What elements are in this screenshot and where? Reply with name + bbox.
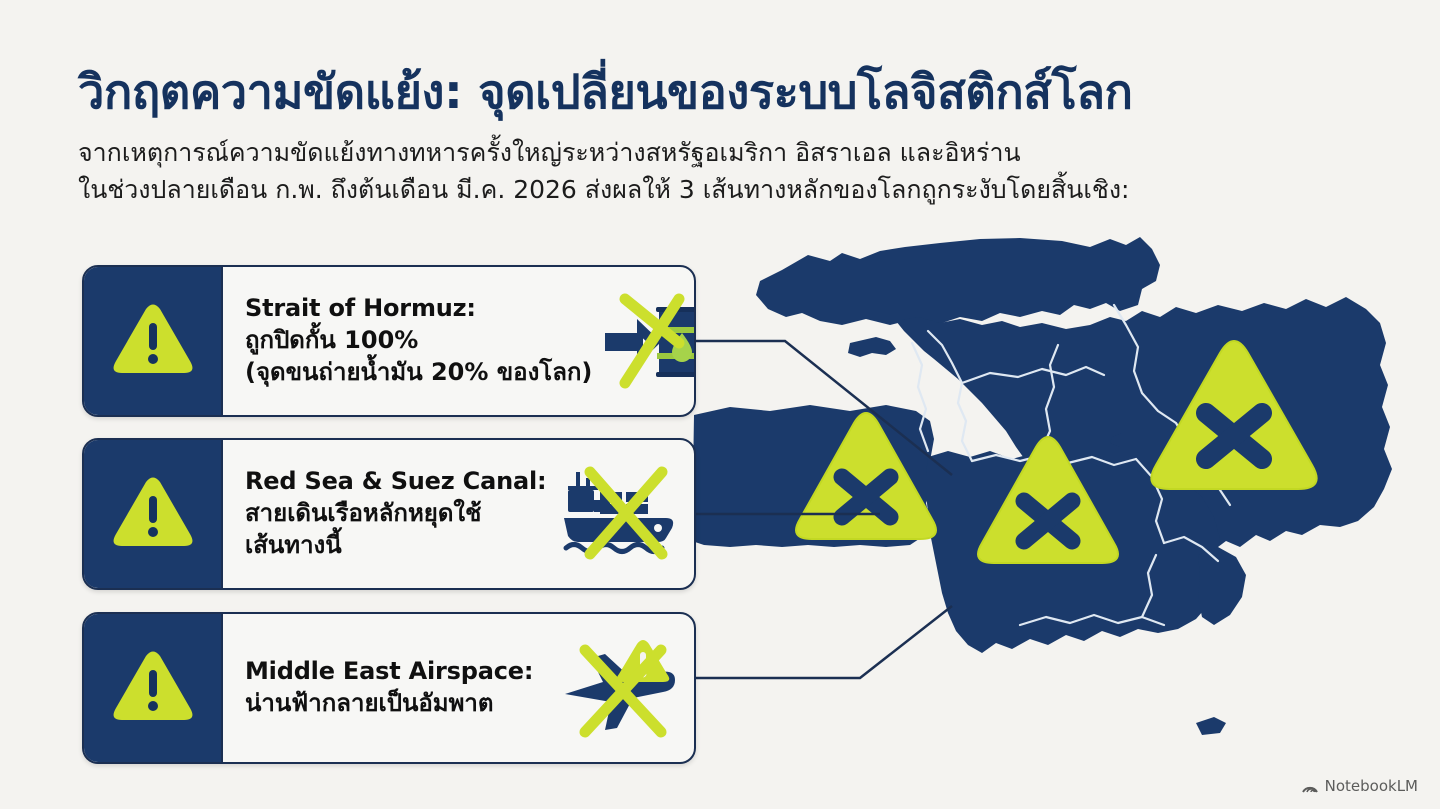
page-subtitle: จากเหตุการณ์ความขัดแย้งทางทหารครั้งใหญ่ร… [78, 134, 1368, 208]
header: วิกฤตความขัดแย้ง: จุดเปลี่ยนของระบบโลจิส… [78, 66, 1368, 208]
card-badge [84, 267, 223, 415]
card-line-2: น่านฟ้ากลายเป็นอัมพาต [245, 688, 559, 720]
card-icon-slot [559, 466, 684, 562]
card-title: Red Sea & Suez Canal: [245, 466, 559, 498]
card-middle-east-airspace[interactable]: Middle East Airspace: น่านฟ้ากลายเป็นอัม… [82, 612, 696, 764]
card-line-2: ถูกปิดกั้น 100% [245, 325, 592, 357]
card-body: Middle East Airspace: น่านฟ้ากลายเป็นอัม… [223, 614, 694, 762]
warning-triangle-icon [110, 476, 196, 552]
airplane-blocked-icon [561, 636, 683, 740]
card-badge [84, 614, 223, 762]
card-red-sea-suez-canal[interactable]: Red Sea & Suez Canal: สายเดินเรือหลักหยุ… [82, 438, 696, 590]
warning-triangle-icon [110, 303, 196, 379]
watermark: NotebookLM [1301, 777, 1418, 795]
card-icon-slot [559, 636, 684, 740]
card-line-3: เส้นทางนี้ [245, 530, 559, 562]
middle-east-map [690, 225, 1440, 785]
card-icon-slot [592, 291, 696, 391]
card-body: Red Sea & Suez Canal: สายเดินเรือหลักหยุ… [223, 440, 694, 588]
card-text: Red Sea & Suez Canal: สายเดินเรือหลักหยุ… [245, 466, 559, 562]
card-title: Middle East Airspace: [245, 656, 559, 688]
card-line-2: สายเดินเรือหลักหยุดใช้ [245, 498, 559, 530]
warning-triangle-icon [110, 650, 196, 726]
card-text: Strait of Hormuz: ถูกปิดกั้น 100% (จุดขน… [245, 293, 592, 389]
card-body: Strait of Hormuz: ถูกปิดกั้น 100% (จุดขน… [223, 267, 696, 415]
page-title: วิกฤตความขัดแย้ง: จุดเปลี่ยนของระบบโลจิส… [78, 66, 1368, 120]
oil-barrel-blocked-icon [599, 291, 696, 391]
subtitle-line-2: ในช่วงปลายเดือน ก.พ. ถึงต้นเดือน มี.ค. 2… [78, 171, 1368, 208]
card-line-3: (จุดขนถ่ายน้ำมัน 20% ของโลก) [245, 357, 592, 389]
watermark-label: NotebookLM [1325, 777, 1418, 795]
cargo-ship-blocked-icon [560, 466, 684, 562]
card-strait-of-hormuz[interactable]: Strait of Hormuz: ถูกปิดกั้น 100% (จุดขน… [82, 265, 696, 417]
card-text: Middle East Airspace: น่านฟ้ากลายเป็นอัม… [245, 656, 559, 720]
notebooklm-icon [1301, 779, 1319, 794]
card-title: Strait of Hormuz: [245, 293, 592, 325]
card-badge [84, 440, 223, 588]
subtitle-line-1: จากเหตุการณ์ความขัดแย้งทางทหารครั้งใหญ่ร… [78, 134, 1368, 171]
map-svg [690, 225, 1440, 785]
